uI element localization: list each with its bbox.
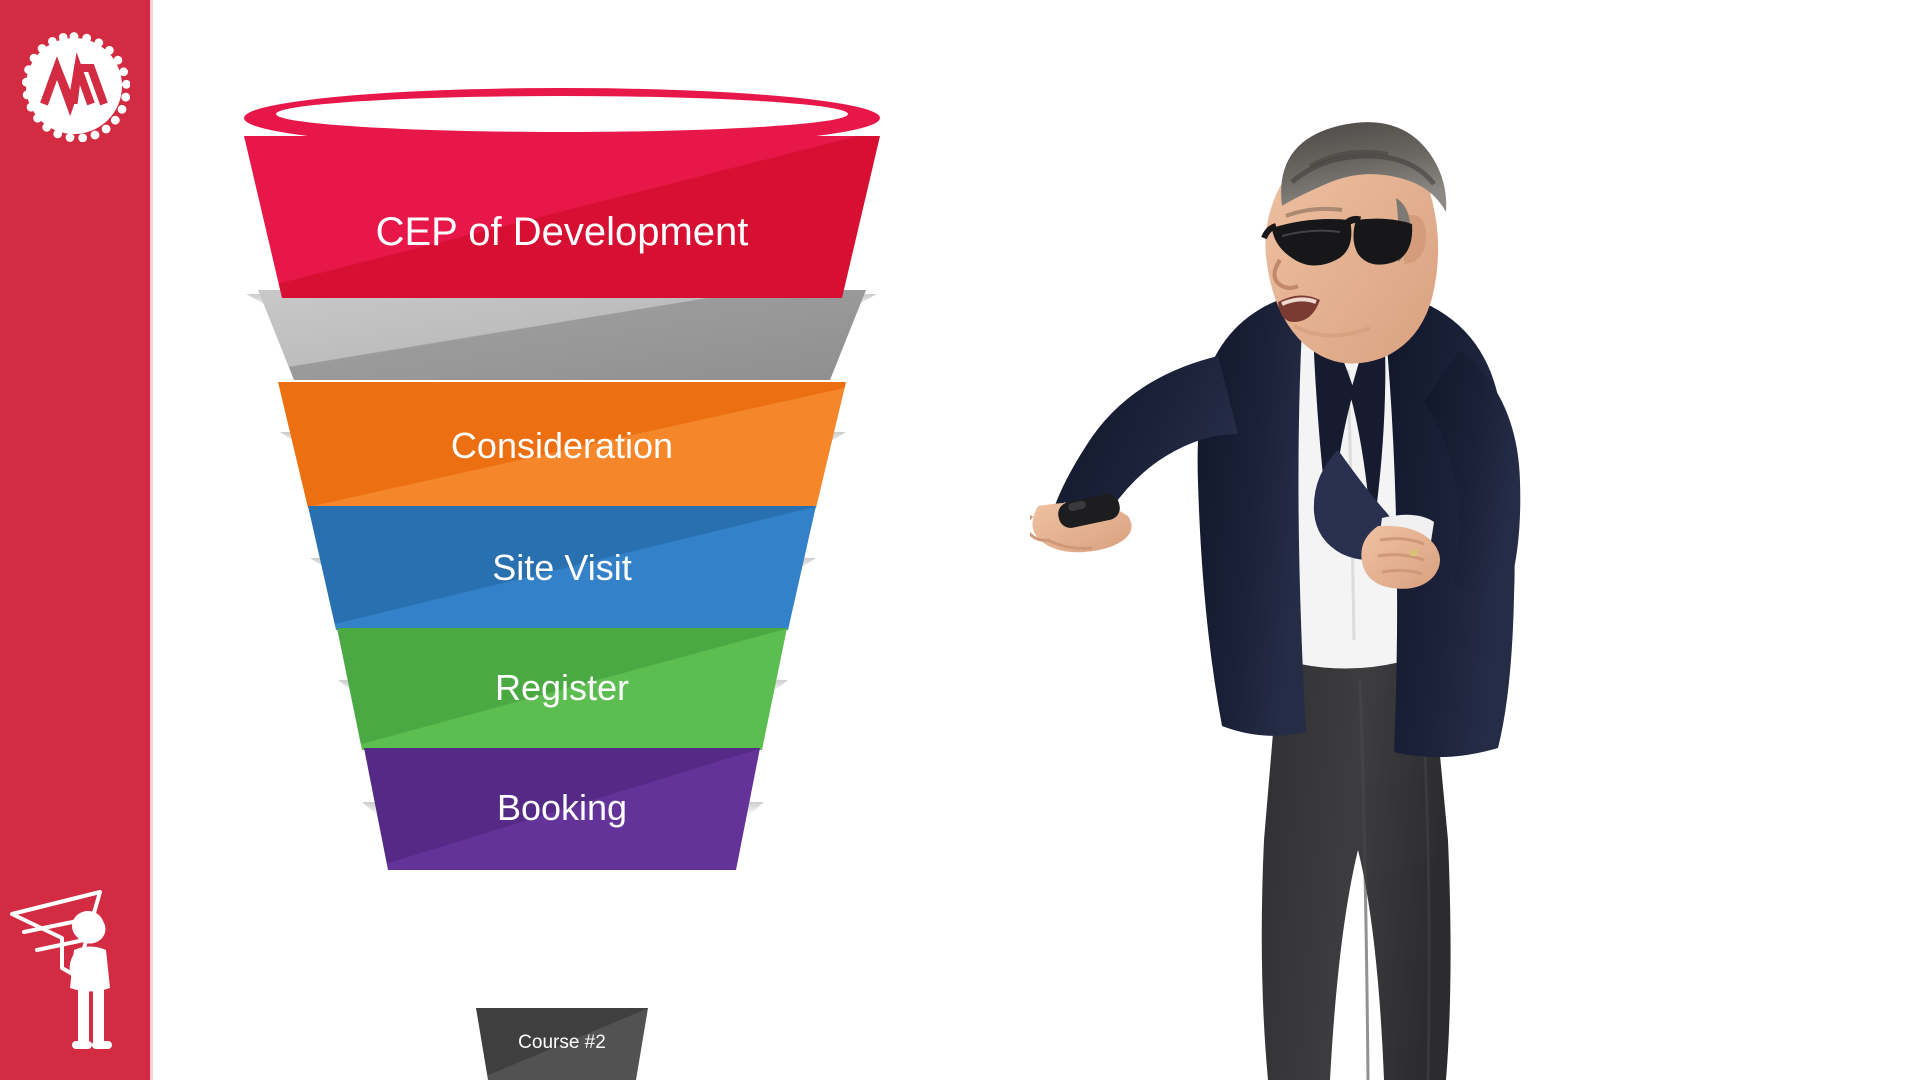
- funnel-stage-0-label: CEP of Development: [376, 210, 749, 254]
- funnel-stage-2-label: Site Visit: [492, 547, 631, 588]
- funnel-stage-0: CEP of Development: [244, 88, 880, 298]
- person-with-funnel-icon: [4, 880, 144, 1060]
- presenter-photo: [1030, 120, 1590, 1080]
- funnel-stage-5: Course #2: [476, 1008, 648, 1080]
- slide-canvas: CEP of Development Consideration Site Vi…: [0, 0, 1920, 1080]
- conversion-funnel-chart: CEP of Development Consideration Site Vi…: [180, 80, 940, 1080]
- funnel-stage-1: Consideration: [278, 382, 846, 508]
- sidebar-edge-highlight: [150, 0, 153, 1080]
- funnel-stage-3-label: Register: [495, 667, 629, 708]
- funnel-stage-5-label: Course #2: [518, 1032, 606, 1053]
- mountain-peaks-badge-logo: [18, 30, 130, 142]
- funnel-stage-4-label: Booking: [497, 787, 627, 828]
- funnel-stage-3: Register: [337, 628, 787, 750]
- funnel-stage-2: Site Visit: [308, 506, 816, 630]
- funnel-stage-4: Booking: [364, 748, 760, 870]
- presenter-head: [1264, 122, 1446, 363]
- funnel-stage-1-label: Consideration: [451, 425, 673, 466]
